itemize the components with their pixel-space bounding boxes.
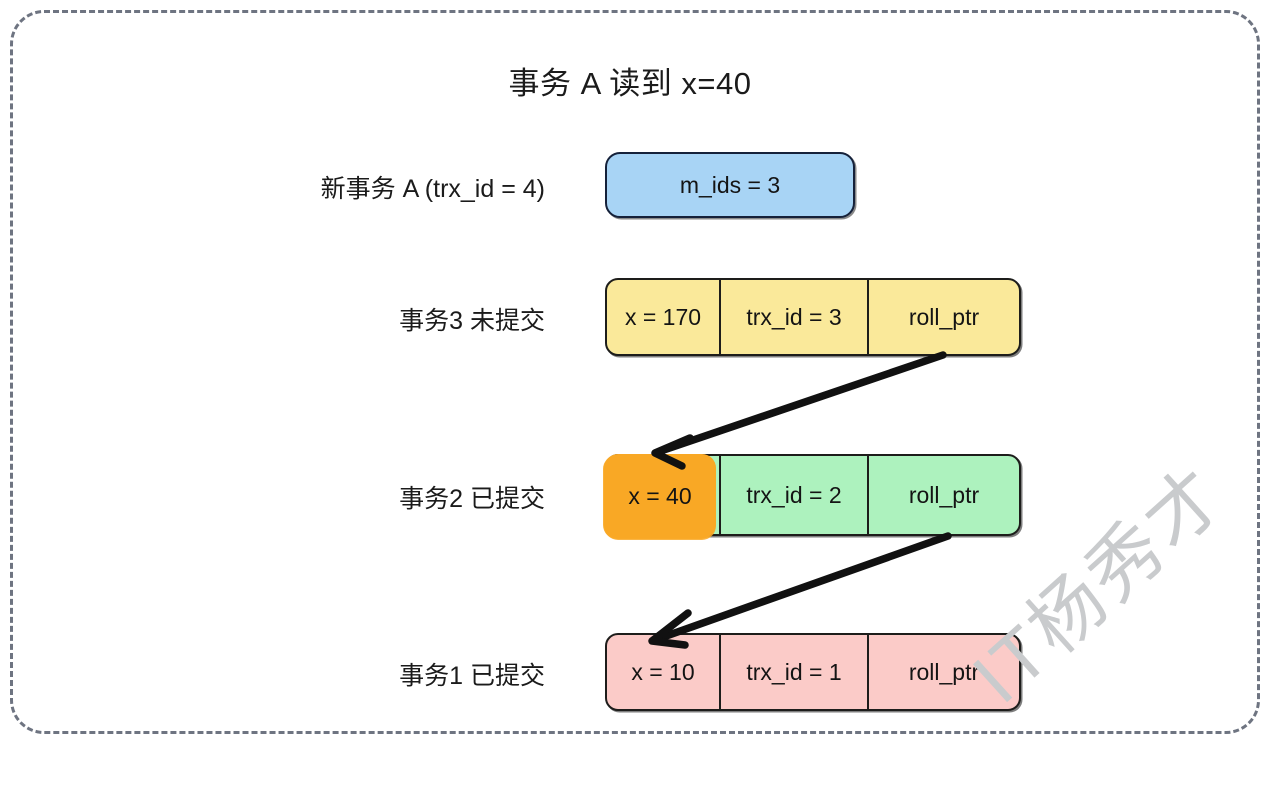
record-trx1-cell-value: x = 10 [607,635,719,709]
row-label-new-transaction: 新事务 A (trx_id = 4) [321,169,545,205]
row-label-trx2: 事务2 已提交 [399,479,545,515]
page-title: 事务 A 读到 x=40 [0,58,1260,103]
highlight-visible-version: x = 40 [604,454,716,538]
row-label-trx1: 事务1 已提交 [399,656,545,692]
diagram-canvas: 事务 A 读到 x=40 新事务 A (trx_id = 4) m_ids = … [0,0,1280,754]
record-trx3-cell-roll-ptr: roll_ptr [867,280,1019,354]
record-trx3: x = 170 trx_id = 3 roll_ptr [605,278,1021,356]
record-trx3-cell-value: x = 170 [607,280,719,354]
row-label-trx3: 事务3 未提交 [399,301,545,337]
snapshot-m-ids-value: m_ids = 3 [680,172,780,199]
record-trx3-cell-trx-id: trx_id = 3 [719,280,867,354]
snapshot-box-m-ids: m_ids = 3 [605,152,855,218]
record-trx1-cell-trx-id: trx_id = 1 [719,635,867,709]
highlight-value-label: x = 40 [628,483,691,510]
record-trx2-cell-trx-id: trx_id = 2 [719,456,867,534]
